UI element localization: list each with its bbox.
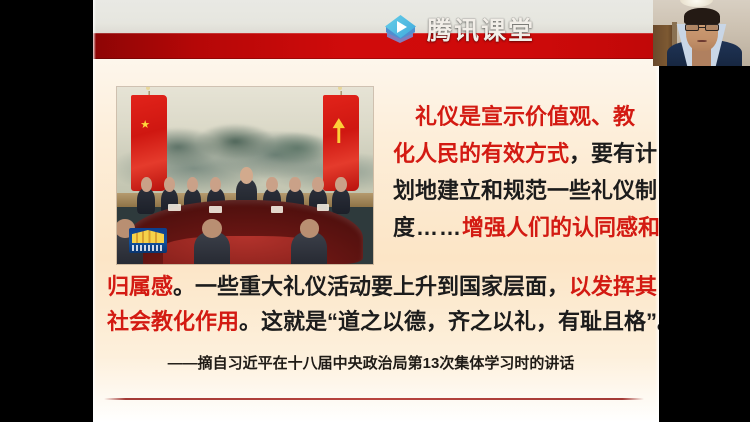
tencent-classroom-brand: 腾讯课堂 xyxy=(384,9,535,53)
quote-segment: ，要有计 xyxy=(569,141,657,166)
presentation-slide: ★ xyxy=(93,0,659,422)
photo-attendee xyxy=(137,188,155,215)
tencent-classroom-play-icon xyxy=(384,14,420,48)
quote-segment: 。这就是“道之以德，齐之以礼，有耻且格”。 xyxy=(239,309,659,334)
video-player-stage: ★ xyxy=(0,0,750,422)
watermark-glyph xyxy=(132,230,164,243)
brand-name: 腾讯课堂 xyxy=(427,19,535,44)
slide-red-banner xyxy=(93,33,659,59)
meeting-photo: ★ xyxy=(117,87,373,264)
glasses-lens-right xyxy=(705,24,719,31)
attribution-text: ——摘自习近平在十八届中央政治局第13次集体学习时的讲话 xyxy=(168,355,575,372)
hammer-sickle-icon xyxy=(331,118,346,143)
quote-line: 礼仪是宣示价值观、教 xyxy=(393,98,651,135)
instructor-hair xyxy=(684,8,720,25)
photo-foreground-attendee xyxy=(194,232,230,264)
cctv-news-watermark-icon xyxy=(129,228,167,253)
slide-divider xyxy=(104,398,644,400)
quote-segment: 归属感 xyxy=(107,274,173,299)
quote-attribution: ——摘自习近平在十八届中央政治局第13次集体学习时的讲话 xyxy=(93,352,659,373)
glasses-icon xyxy=(685,24,719,31)
play-triangle-icon xyxy=(397,21,407,33)
quote-right-column: 礼仪是宣示价值观、教 化人民的有效方式，要有计 划地建立和规范一些礼仪制 度……… xyxy=(393,98,651,246)
quote-segment: 社会教化作用 xyxy=(107,309,239,334)
photo-attendee xyxy=(332,188,350,215)
photo-document xyxy=(168,204,181,211)
quote-segment: 增强人们的认同感和 xyxy=(462,215,659,240)
slide-top-strip xyxy=(93,0,659,33)
glasses-lens-left xyxy=(685,24,699,31)
glasses-bridge xyxy=(699,27,706,28)
quote-line: 度……增强人们的认同感和 xyxy=(393,209,651,246)
photo-document xyxy=(271,206,284,213)
flag-star-icon: ★ xyxy=(140,120,150,131)
quote-line: 社会教化作用。这就是“道之以德，齐之以礼，有耻且格”。 xyxy=(107,304,647,339)
photo-document xyxy=(317,204,330,211)
quote-segment: 以发挥其 xyxy=(569,274,657,299)
quote-segment: 化人民的有效方式 xyxy=(393,141,569,166)
quote-segment: 礼仪是宣示价值观、教 xyxy=(415,104,635,129)
quote-wide-block: 归属感。一些重大礼仪活动要上升到国家层面，以发挥其 社会教化作用。这就是“道之以… xyxy=(107,269,647,339)
quote-line: 化人民的有效方式，要有计 xyxy=(393,135,651,172)
quote-segment: 。一些重大礼仪活动要上升到国家层面， xyxy=(173,274,569,299)
quote-segment: 度…… xyxy=(393,215,462,240)
instructor-webcam[interactable] xyxy=(653,0,750,66)
quote-segment: 划地建立和规范一些礼仪制 xyxy=(393,178,657,203)
photo-foreground-attendee xyxy=(291,232,327,264)
quote-line: 划地建立和规范一些礼仪制 xyxy=(393,172,651,209)
watermark-subtitle xyxy=(132,245,164,251)
photo-document xyxy=(209,206,222,213)
quote-line: 归属感。一些重大礼仪活动要上升到国家层面，以发挥其 xyxy=(107,269,647,304)
